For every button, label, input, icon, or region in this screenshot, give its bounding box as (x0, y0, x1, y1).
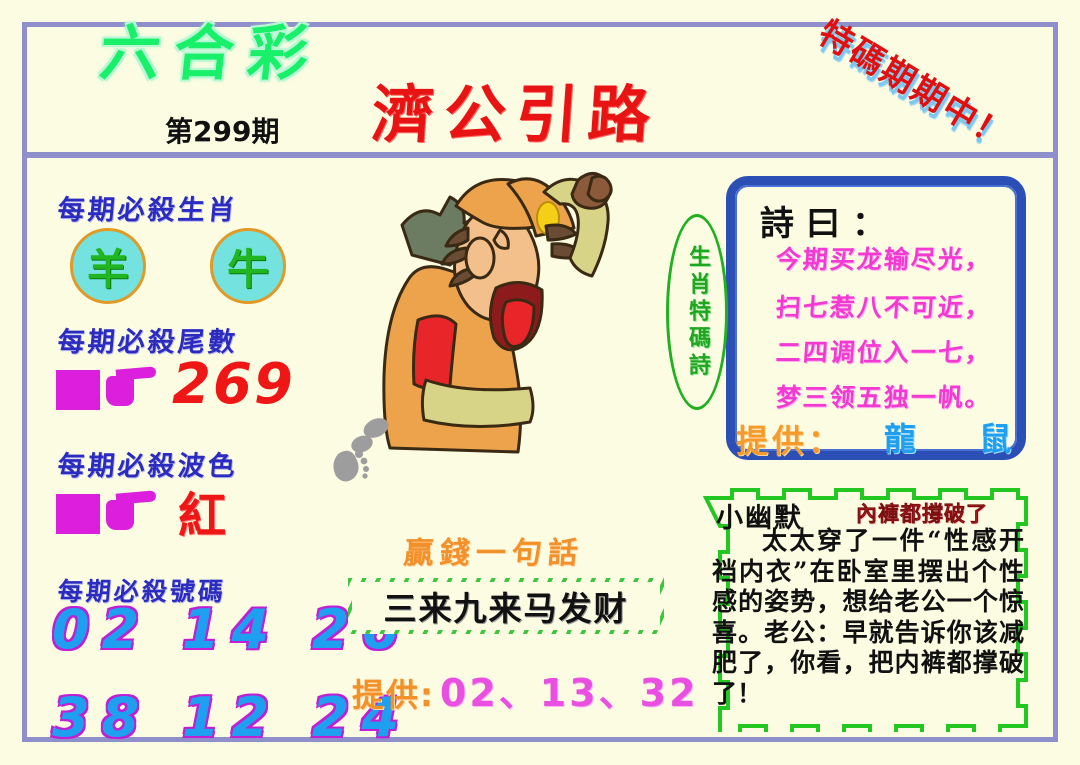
kill-zodiac-label: 每期必殺生肖 (56, 188, 239, 227)
poem-line-2: 扫七惹八不可近， (775, 288, 994, 324)
pointing-hand-icon-2 (56, 490, 151, 536)
kill-wave-value: 紅 (178, 476, 228, 546)
page-title: 濟公引路 (370, 84, 662, 146)
poem-credit-label: 提供： (736, 416, 844, 462)
poem-credit-value: 龍 鼠 (884, 414, 1037, 460)
poem-line-4: 梦三领五独一帆。 (775, 378, 994, 414)
provide-numbers: 02、13、32 (440, 671, 699, 715)
slogan-text: 三来九来马发财 (384, 582, 629, 630)
humor-body: 太太穿了一件“性感开裆内衣”在卧室里摆出个性感的姿势，想给老公一个惊喜。老公：早… (712, 526, 1024, 709)
poem-line-3: 二四调位入一七， (775, 333, 994, 369)
provide-row: 提供: 02、13、32 (352, 662, 699, 717)
zodiac-badge-ox: 牛 (210, 228, 286, 304)
kill-tail-value: 269 (172, 352, 295, 417)
humor-body-text: 太太穿了一件“性感开裆内衣”在卧室里摆出个性感的姿势，想给老公一个惊喜。老公：早… (712, 526, 1024, 709)
brand-title: 六合彩 (97, 24, 325, 84)
zodiac-row: 羊 牛 (70, 228, 330, 304)
poem-line-1: 今期买龙输尽光， (775, 240, 994, 276)
win-money-title: 贏錢一句話 (402, 528, 586, 572)
pointing-hand-icon (56, 366, 151, 412)
footprints-icon (332, 418, 402, 484)
slogan-box: 三来九来马发财 (348, 578, 664, 634)
issue-number: 第299期 (165, 110, 279, 150)
lottery-poster: 六合彩 第299期 濟公引路 特碼期期中！ 每期必殺生肖 羊 牛 每期必殺尾數 … (0, 0, 1080, 765)
zodiac-badge-sheep: 羊 (70, 228, 146, 304)
zodiac-poem-side-label: 生肖特碼詩 (666, 214, 728, 410)
provide-label: 提供: (352, 676, 435, 714)
header-divider (22, 152, 1058, 158)
zodiac-poem-side-label-text: 生肖特碼詩 (681, 245, 713, 380)
poem-title: 詩曰： (760, 196, 898, 245)
humor-subtitle: 內褲都撐破了 (856, 498, 988, 528)
